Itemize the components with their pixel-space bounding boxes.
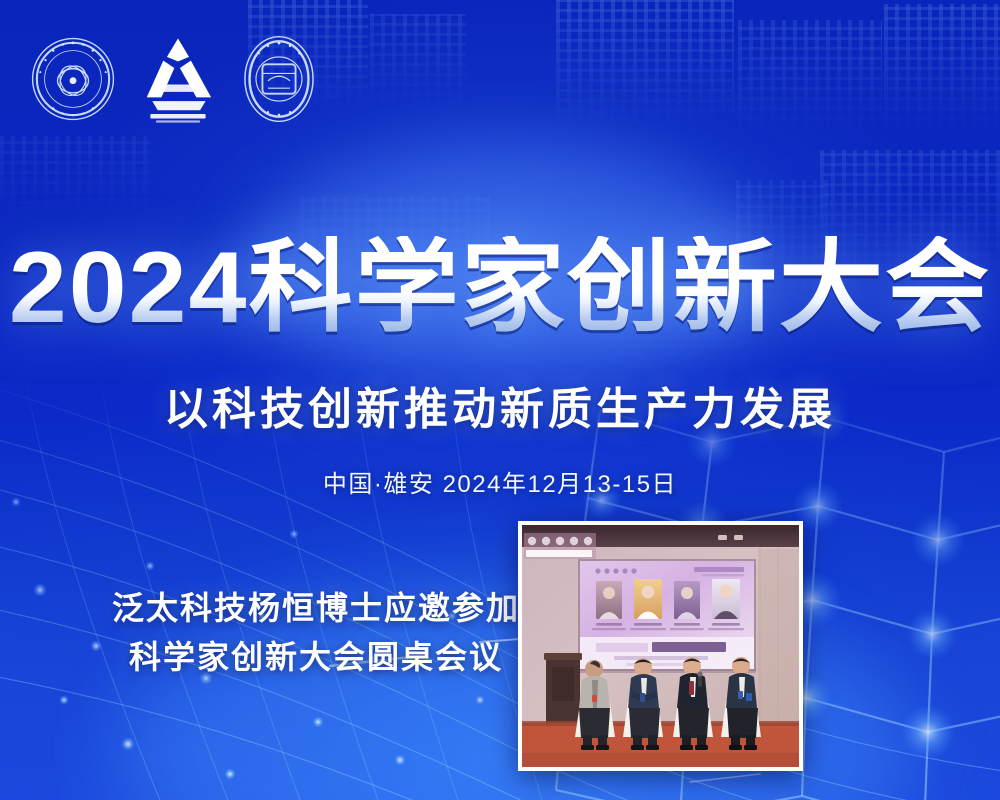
oval-academy-emblem-icon bbox=[242, 33, 316, 125]
wall-sign bbox=[524, 533, 596, 559]
podium bbox=[544, 653, 582, 729]
stage-screen bbox=[578, 559, 756, 671]
logo-row bbox=[14, 28, 334, 132]
caption-line-2: 科学家创新大会圆桌会议 bbox=[106, 633, 526, 682]
conference-poster: 2024科学家创新大会 以科技创新推动新质生产力发展 中国·雄安 2024年12… bbox=[0, 0, 1000, 800]
poster-subtitle: 以科技创新推动新质生产力发展 bbox=[0, 385, 1000, 435]
triangle-mark-logo-icon bbox=[132, 32, 224, 126]
date-location-line: 中国·雄安 2024年12月13-15日 bbox=[0, 470, 1000, 500]
event-caption: 泛太科技杨恒博士应邀参加 科学家创新大会圆桌会议 bbox=[106, 584, 526, 682]
caption-line-1: 泛太科技杨恒博士应邀参加 bbox=[106, 584, 526, 633]
poster-headline: 2024科学家创新大会 bbox=[0, 236, 1000, 340]
roundtable-photo bbox=[522, 525, 799, 767]
roundtable-photo-frame bbox=[518, 521, 803, 771]
circular-seal-emblem-icon bbox=[30, 36, 116, 122]
